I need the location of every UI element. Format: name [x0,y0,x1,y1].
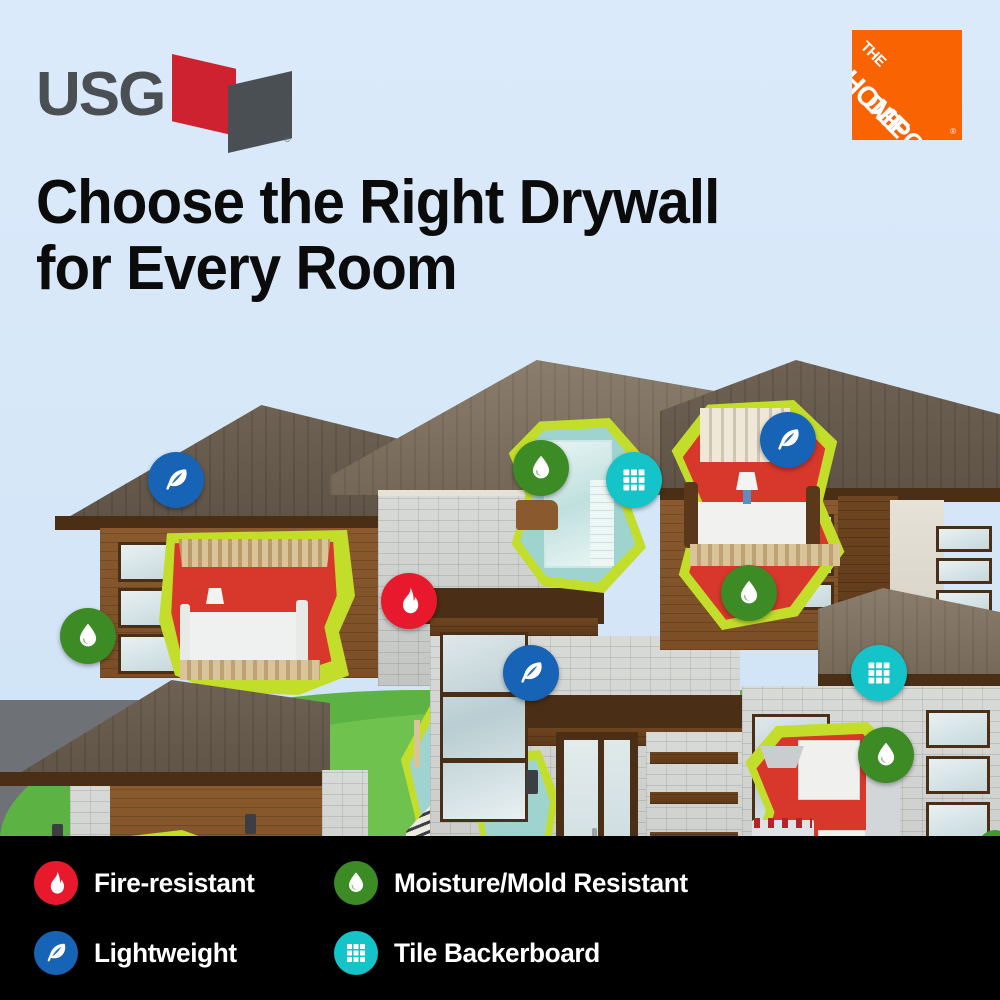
bedroom-right-lamp-shade [736,472,758,490]
usg-logo: USG ® [36,42,286,142]
infographic-canvas: USG ® THE HOME DEPOT ® Choose the Right … [0,0,1000,1000]
tile-grid-icon [334,931,378,975]
marker-kitchen-moisture[interactable] [721,565,777,621]
marker-bedroom-left-lightweight[interactable] [148,452,204,508]
tile-grid-icon [865,659,893,687]
usg-logo-gray-panel [228,71,292,153]
tile-grid-icon [620,466,648,494]
bedroom-right-headboard [684,482,698,548]
legend-item-tile-backerboard[interactable]: Tile Backerboard [334,924,697,982]
marker-laundry-moisture[interactable] [858,727,914,783]
bedroom-right-bed [692,502,814,546]
legend-item-moisture-mold[interactable]: Moisture/Mold Resistant [334,854,697,912]
bedroom-left-headboard [296,600,308,662]
legend-label-lightweight: Lightweight [94,938,237,969]
marker-stairway-fire[interactable] [381,573,437,629]
bedroom-right-lamp-base [743,490,751,504]
window-right-lower-3 [926,802,990,840]
roof-garage [0,680,330,785]
marker-bathroom-tile[interactable] [606,452,662,508]
fascia-garage [0,772,330,786]
legend-bar: Fire-resistant Moisture/Mold Resistant [0,836,1000,1000]
marker-bedroom-right-lightweight[interactable] [760,412,816,468]
home-depot-logo: THE HOME DEPOT ® [852,30,962,140]
bedroom-right-floor-joists [690,544,840,566]
droplet-icon [871,740,901,770]
feather-icon [516,658,546,688]
home-depot-line-the: THE [857,38,889,70]
droplet-icon [734,578,764,608]
legend-label-moisture-mold: Moisture/Mold Resistant [394,868,688,899]
window-right-lower-2 [926,756,990,794]
feather-icon [773,425,803,455]
kitchen-upper-cabinets [798,740,860,800]
flame-icon [34,861,78,905]
droplet-icon [526,453,556,483]
legend-label-fire-resistant: Fire-resistant [94,868,255,899]
bedroom-left-lamp [206,588,224,604]
title-line-1: Choose the Right Drywall [36,170,816,236]
marker-bathroom-moisture[interactable] [513,440,569,496]
usg-logo-red-panel [172,54,236,136]
bedroom-left-bed-frame [180,604,190,662]
kitchen-range-burners [754,818,812,828]
window-right-lower-1 [926,710,990,748]
page-title: Choose the Right Drywall for Every Room [36,170,816,301]
entry-right-trim-2 [650,792,738,804]
usg-wordmark: USG [36,64,164,126]
entry-wall-lamp [526,770,538,794]
legend-label-tile-backerboard: Tile Backerboard [394,938,600,969]
marker-garage-moisture[interactable] [60,608,116,664]
feather-icon [161,465,191,495]
home-depot-registered-mark: ® [950,127,956,136]
bedroom-left-floor-joists [180,660,320,680]
window-entry-mullion-h2 [440,758,528,763]
droplet-icon [73,621,103,651]
bathroom-vanity [516,500,558,530]
feather-icon [34,931,78,975]
title-line-2: for Every Room [36,236,816,302]
marker-laundry-tile[interactable] [851,645,907,701]
legend-item-fire-resistant[interactable]: Fire-resistant [34,854,334,912]
marker-entry-lightweight[interactable] [503,645,559,701]
bedroom-right-footboard [806,486,820,548]
window-right-far-2 [936,558,992,584]
garage-wall-lamp-right [245,814,256,834]
home-depot-line-depot: DEPOT [858,88,941,140]
legend-item-lightweight[interactable]: Lightweight [34,924,334,982]
entry-right-trim-1 [650,752,738,764]
bedroom-left-ceiling-joists [172,539,337,567]
flame-icon [394,586,424,616]
bedroom-left-bed [185,612,301,662]
droplet-icon [334,861,378,905]
cutaway-house-illustration [0,300,1000,840]
window-right-far-1 [936,526,992,552]
usg-registered-mark: ® [284,134,291,144]
